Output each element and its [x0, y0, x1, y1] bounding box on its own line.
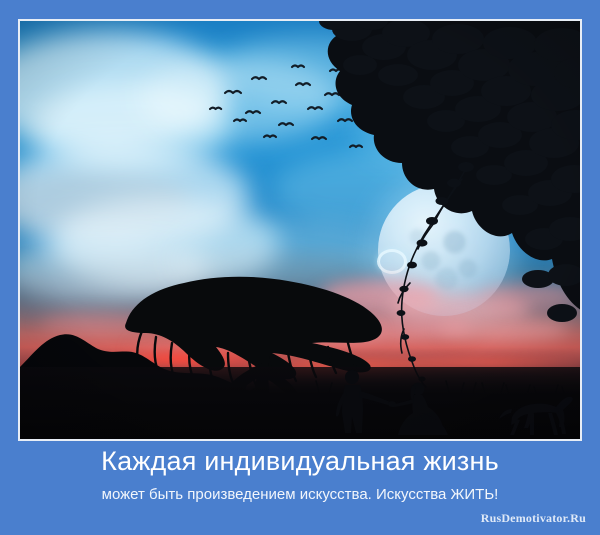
- photo-frame: [18, 19, 582, 441]
- man-silhouette: [336, 370, 391, 433]
- demotivator-poster: Каждая индивидуальная жизнь может быть п…: [0, 0, 600, 535]
- horse-silhouette: [499, 397, 573, 435]
- caption-subtitle: может быть произведением искусства. Иску…: [0, 487, 600, 504]
- woman-silhouette: [391, 383, 448, 435]
- caption-area: Каждая индивидуальная жизнь может быть п…: [0, 441, 600, 535]
- caption-title: Каждая индивидуальная жизнь: [0, 447, 600, 477]
- watermark: RusDemotivator.Ru: [481, 511, 586, 526]
- photograph: [20, 21, 580, 439]
- figure-silhouettes: [20, 21, 580, 439]
